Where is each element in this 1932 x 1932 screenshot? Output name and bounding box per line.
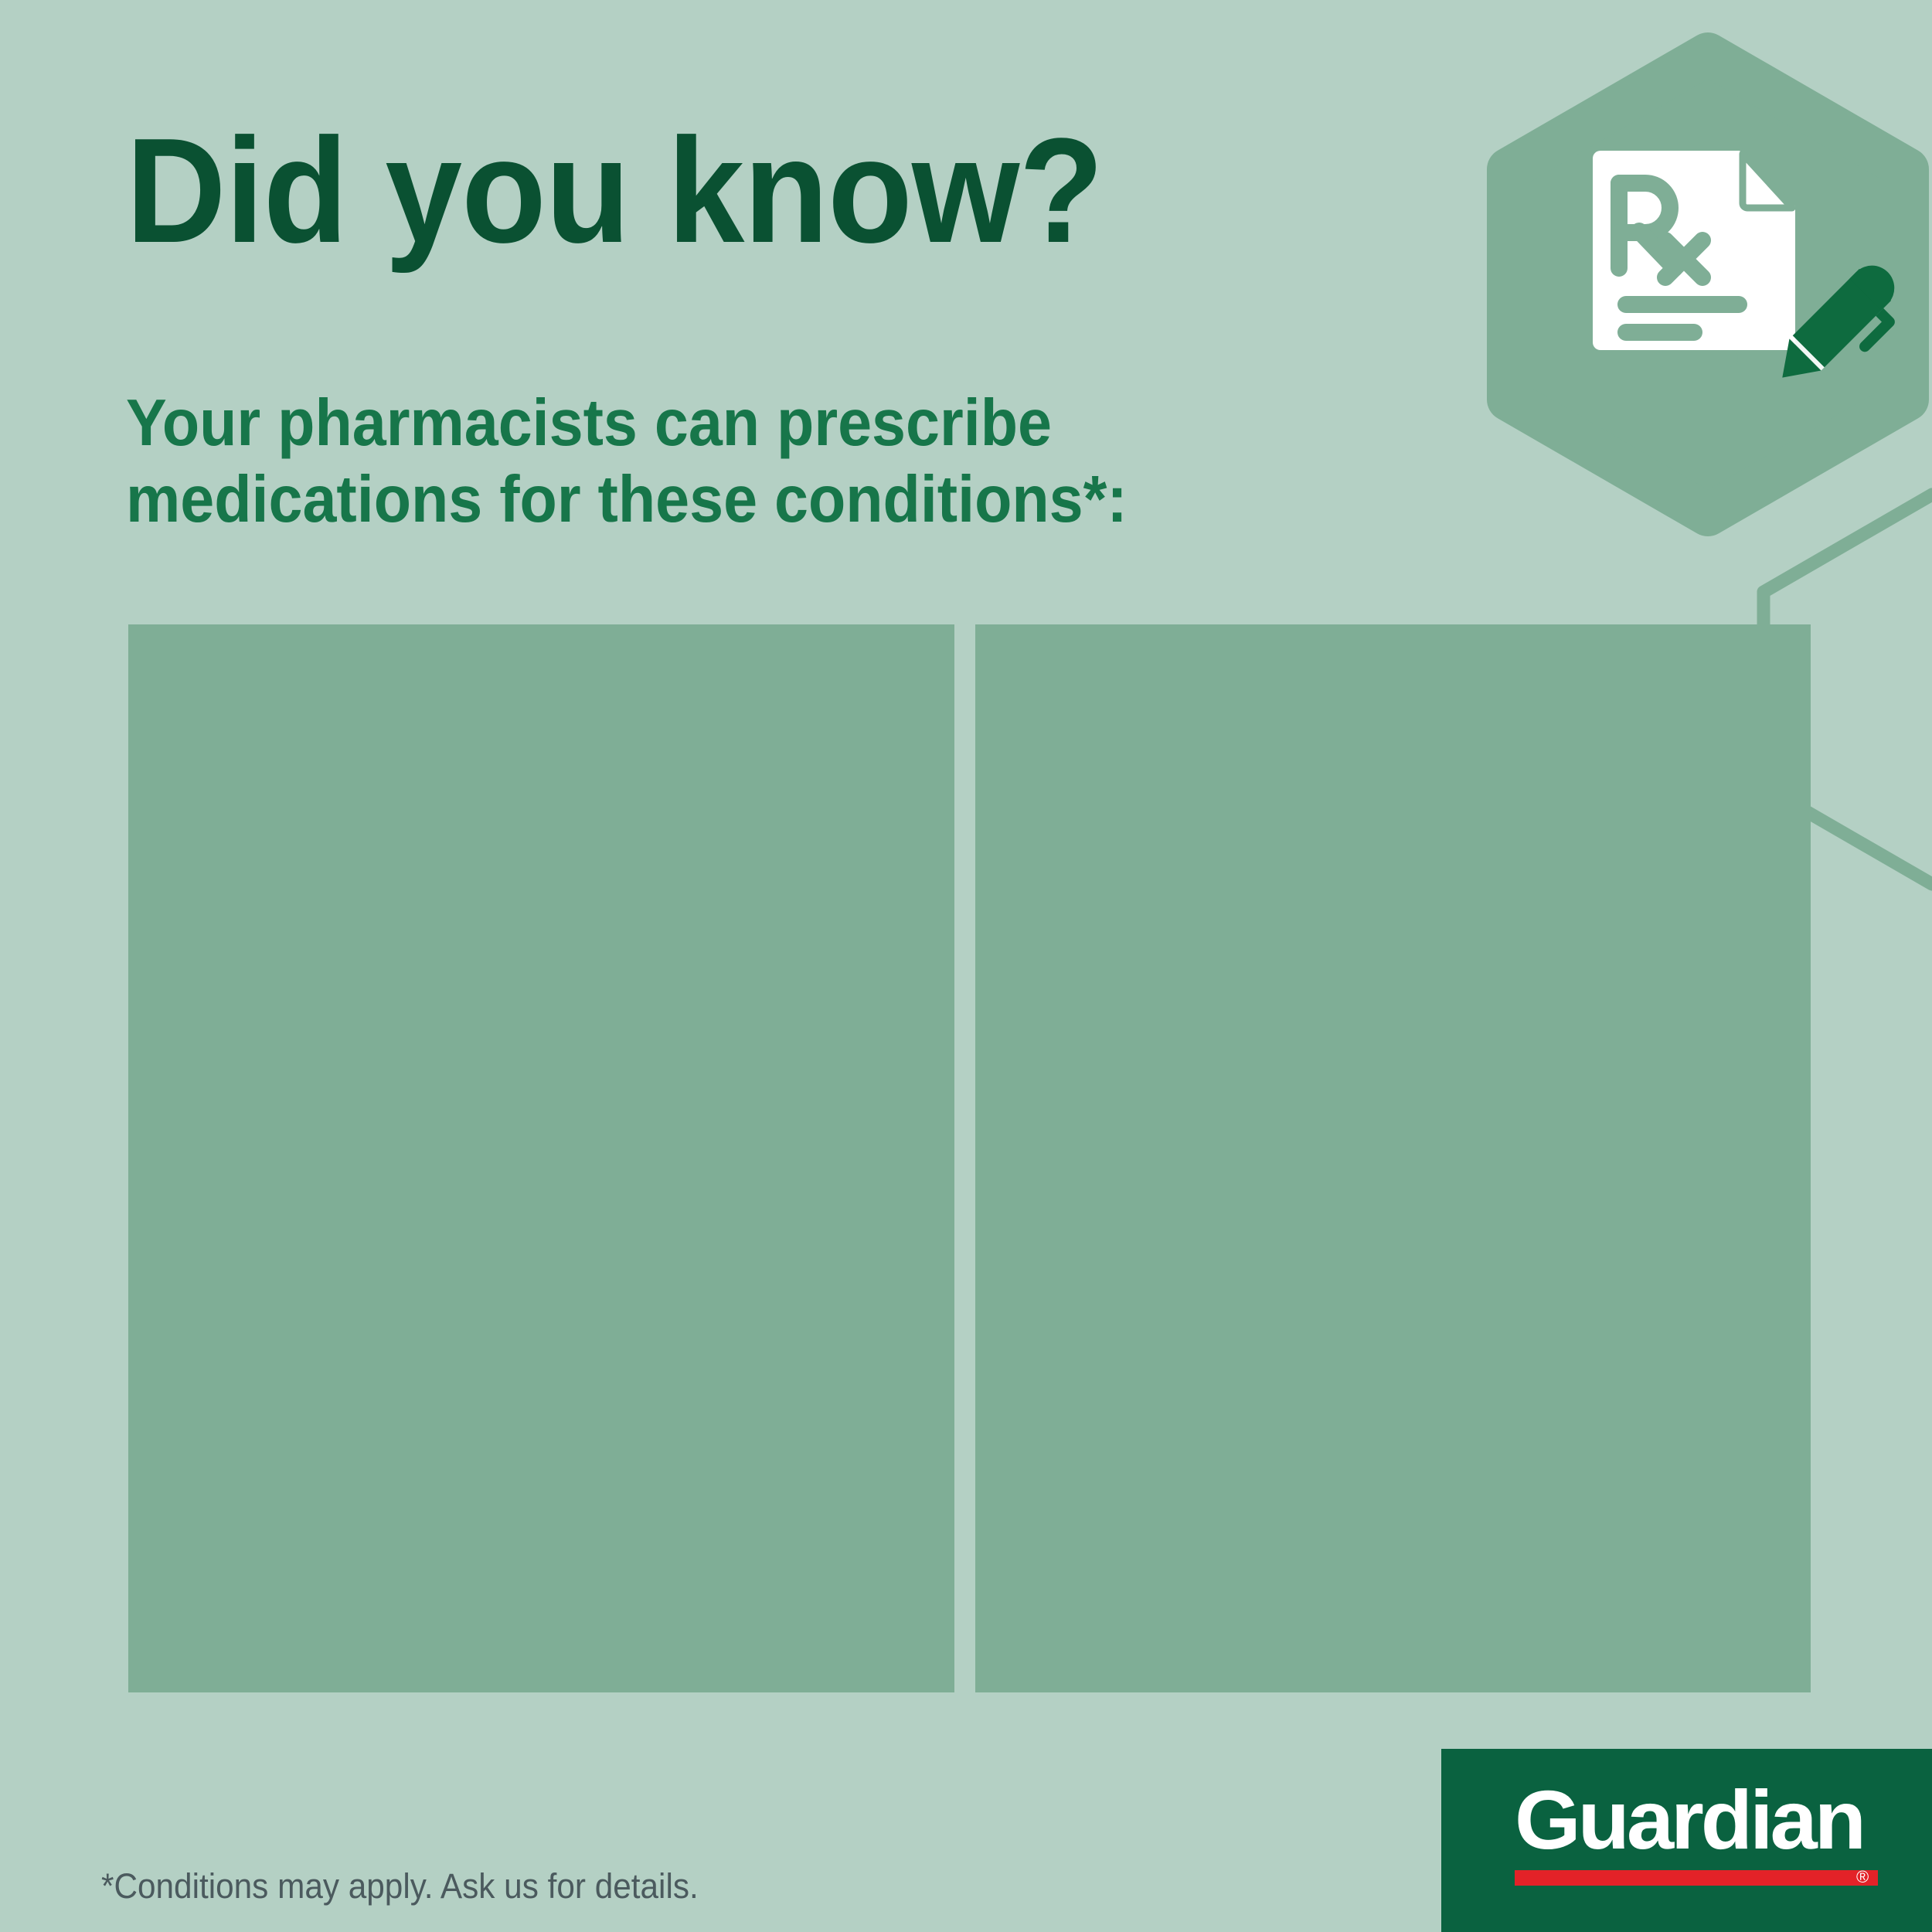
conditions-panel-group [128,624,1811,1692]
page-title: Did you know? [126,116,1168,265]
conditions-panel-right[interactable] [975,624,1811,1692]
page-fold [1743,154,1792,208]
subtitle-line-2: medications for these conditions*: [126,463,1128,536]
page-subtitle: Your pharmacists can prescribe medicatio… [126,385,1204,539]
headline-block: Did you know? [126,116,1247,265]
pencil-icon [1766,255,1909,402]
subtitle-line-1: Your pharmacists can prescribe [126,386,1052,460]
poster-canvas: Did you know? Your pharmacists can presc… [0,0,1932,1932]
guardian-logo: Guardian ® [1441,1749,1932,1932]
footnote-disclaimer: *Conditions may apply. Ask us for detail… [101,1866,699,1907]
conditions-panel-left[interactable] [128,624,954,1692]
guardian-red-bar [1515,1870,1878,1886]
registered-trademark-icon: ® [1856,1869,1869,1886]
guardian-wordmark: Guardian [1515,1778,1863,1862]
